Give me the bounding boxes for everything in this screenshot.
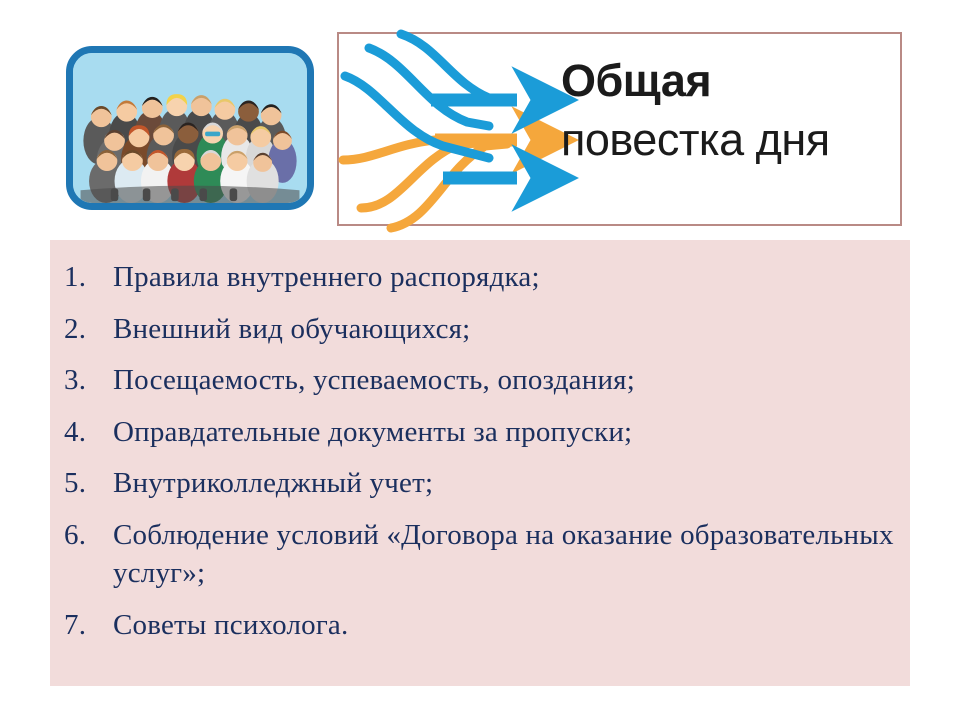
converging-arrows-icon [339,32,554,228]
logo-title-line1: Общая [561,58,911,103]
list-item-label: Оправдательные документы за пропуски; [113,413,910,452]
agenda-list: 1. Правила внутреннего распорядка; 2. Вн… [50,240,910,645]
list-item: 1. Правила внутреннего распорядка; [50,258,910,297]
list-item-number: 6. [64,516,104,555]
list-item-number: 2. [64,310,104,349]
list-item-number: 3. [64,361,104,400]
list-item: 4. Оправдательные документы за пропуски; [50,413,910,452]
list-item-number: 7. [64,606,104,645]
list-item: 3. Посещаемость, успеваемость, опоздания… [50,361,910,400]
logo-title-line2: повестка дня [561,117,911,162]
list-item-label: Правила внутреннего распорядка; [113,258,910,297]
list-item: 5. Внутриколледжный учет; [50,464,910,503]
logo-title: Общая повестка дня [561,58,911,162]
agenda-panel: 1. Правила внутреннего распорядка; 2. Вн… [50,240,910,686]
list-item-label: Советы психолога. [113,606,910,645]
agenda-logo-box: Общая повестка дня [337,32,902,226]
list-item-label: Соблюдение условий «Договора на оказание… [113,516,910,593]
list-item-label: Внутриколледжный учет; [113,464,910,503]
list-item: 2. Внешний вид обучающихся; [50,310,910,349]
list-item-label: Внешний вид обучающихся; [113,310,910,349]
list-item-number: 1. [64,258,104,297]
list-item-number: 4. [64,413,104,452]
list-item: 6. Соблюдение условий «Договора на оказа… [50,516,910,593]
list-item: 7. Советы психолога. [50,606,910,645]
list-item-label: Посещаемость, успеваемость, опоздания; [113,361,910,400]
audience-illustration-card [66,46,314,210]
list-item-number: 5. [64,464,104,503]
audience-of-seated-people-icon [73,53,307,203]
